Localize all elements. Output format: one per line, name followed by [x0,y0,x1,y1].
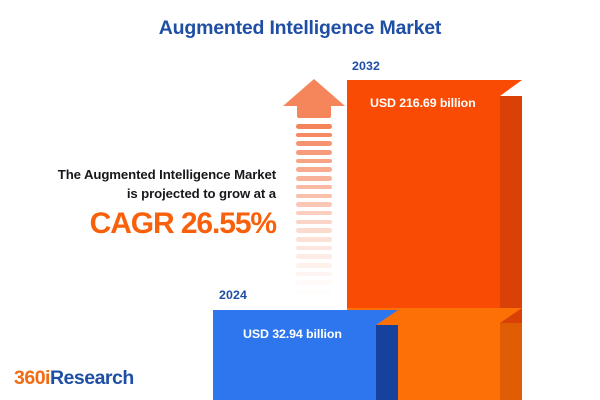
bar-value-label-2024: USD 32.94 billion [243,327,342,341]
bar-2032-top-bevel [500,80,522,96]
bar-2024-top-bevel [376,310,398,325]
logo-text-primary: 360i [14,367,50,389]
infographic-canvas: Augmented Intelligence Market The Augmen… [0,0,600,400]
logo-text-secondary: Research [50,367,134,389]
bar-2024 [213,310,398,400]
bar-year-label-2024: 2024 [219,288,247,302]
bar-2024-front-face [213,310,376,400]
bar-year-label-2032: 2032 [352,59,380,73]
bar-2032-overlap-bevel [500,308,522,323]
bar-2024-side-face [376,325,398,400]
bar-chart-plot: 2032 2024 USD 216.69 billion USD 32.94 b… [0,0,600,400]
bar-2032-overlap-side [500,323,522,400]
bar-value-label-2032: USD 216.69 billion [370,96,476,110]
brand-logo: 360iResearch [14,367,134,390]
